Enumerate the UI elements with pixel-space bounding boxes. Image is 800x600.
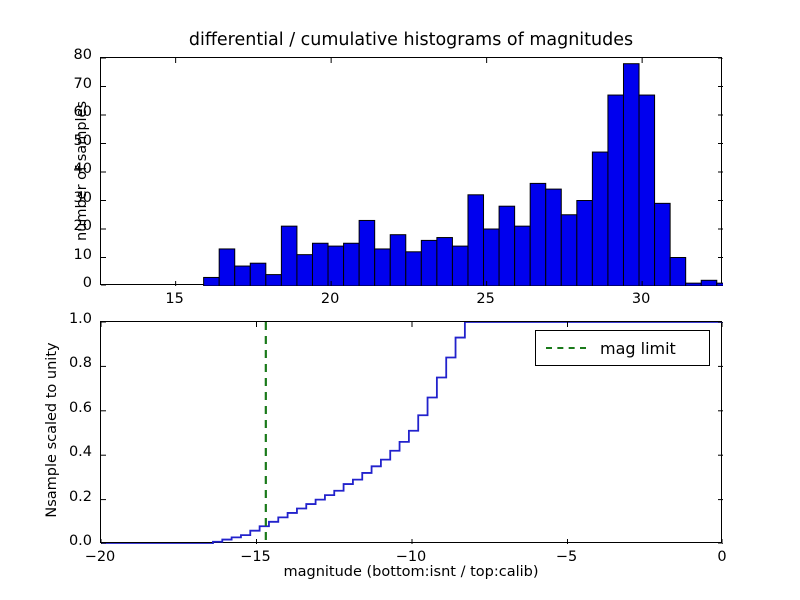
figure-canvas: differential / cumulative histograms of …: [0, 0, 800, 600]
top-axis-y-tick-label: 20: [42, 218, 92, 234]
top-axis-y-tick-label: 30: [42, 190, 92, 206]
bottom-axis-y-label: Nsample scaled to unity: [44, 319, 60, 541]
differential-histogram-plot: [101, 58, 723, 286]
histogram-bar: [297, 255, 313, 286]
top-axis-x-tick-label: 15: [145, 291, 205, 307]
histogram-bar: [608, 95, 624, 286]
legend-entry-label: mag limit: [600, 339, 676, 358]
histogram-bar: [561, 215, 577, 286]
histogram-bar: [623, 64, 639, 286]
histogram-bar: [344, 243, 360, 286]
histogram-bar: [499, 206, 515, 286]
top-axis-y-tick-label: 70: [42, 76, 92, 92]
bottom-axis-x-tick-label: −5: [537, 549, 597, 565]
histogram-bar: [701, 280, 717, 286]
histogram-bar: [592, 152, 608, 286]
histogram-bar: [204, 277, 220, 286]
histogram-bar: [219, 249, 235, 286]
histogram-bar: [250, 263, 266, 286]
top-axis-y-tick-label: 0: [42, 275, 92, 291]
histogram-bar: [670, 258, 686, 287]
top-axis-y-tick-label: 60: [42, 104, 92, 120]
top-axis-y-tick-label: 80: [42, 47, 92, 63]
histogram-bar: [328, 246, 344, 286]
bottom-axis-x-tick-label: −10: [381, 549, 441, 565]
histogram-bar: [266, 275, 282, 286]
bottom-axis-y-tick-label: 1.0: [34, 311, 92, 327]
bottom-axis-y-tick-label: 0.4: [34, 444, 92, 460]
histogram-bar: [390, 235, 406, 286]
bottom-axis-x-tick-label: −20: [70, 549, 130, 565]
histogram-bar: [406, 252, 422, 286]
histogram-bar: [421, 240, 437, 286]
histogram-bar: [546, 189, 562, 286]
histogram-bar: [375, 249, 391, 286]
legend: mag limit: [535, 330, 710, 366]
top-axis-y-tick-label: 40: [42, 161, 92, 177]
histogram-bar: [639, 95, 655, 286]
histogram-bar: [281, 226, 297, 286]
top-axis-x-tick-label: 20: [300, 291, 360, 307]
histogram-bar: [686, 283, 702, 286]
bottom-axis-y-tick-label: 0.2: [34, 489, 92, 505]
histogram-bar: [515, 226, 531, 286]
histogram-bar: [312, 243, 328, 286]
histogram-bar: [530, 183, 546, 286]
bottom-axis-y-tick-label: 0.6: [34, 400, 92, 416]
top-axis-y-tick-label: 50: [42, 133, 92, 149]
top-axis-y-tick-label: 10: [42, 247, 92, 263]
bottom-axis-x-tick-label: 0: [692, 549, 752, 565]
histogram-bar: [452, 246, 468, 286]
histogram-bar: [468, 195, 484, 286]
histogram-bar: [484, 229, 500, 286]
histogram-bar: [577, 201, 593, 287]
histogram-bar: [235, 266, 251, 286]
differential-histogram-axes: [100, 57, 722, 285]
bottom-axis-y-tick-label: 0.0: [34, 533, 92, 549]
bottom-axis-x-tick-label: −15: [226, 549, 286, 565]
top-axis-x-tick-label: 25: [456, 291, 516, 307]
bottom-axis-y-tick-label: 0.8: [34, 355, 92, 371]
mag-limit-line-swatch-icon: [546, 347, 586, 349]
histogram-bar: [437, 238, 453, 286]
histogram-bar: [359, 220, 375, 286]
top-axis-x-tick-label: 30: [611, 291, 671, 307]
figure-x-label: magnitude (bottom:isnt / top:calib): [100, 564, 722, 580]
histogram-bar: [655, 203, 671, 286]
figure-title: differential / cumulative histograms of …: [100, 30, 722, 50]
